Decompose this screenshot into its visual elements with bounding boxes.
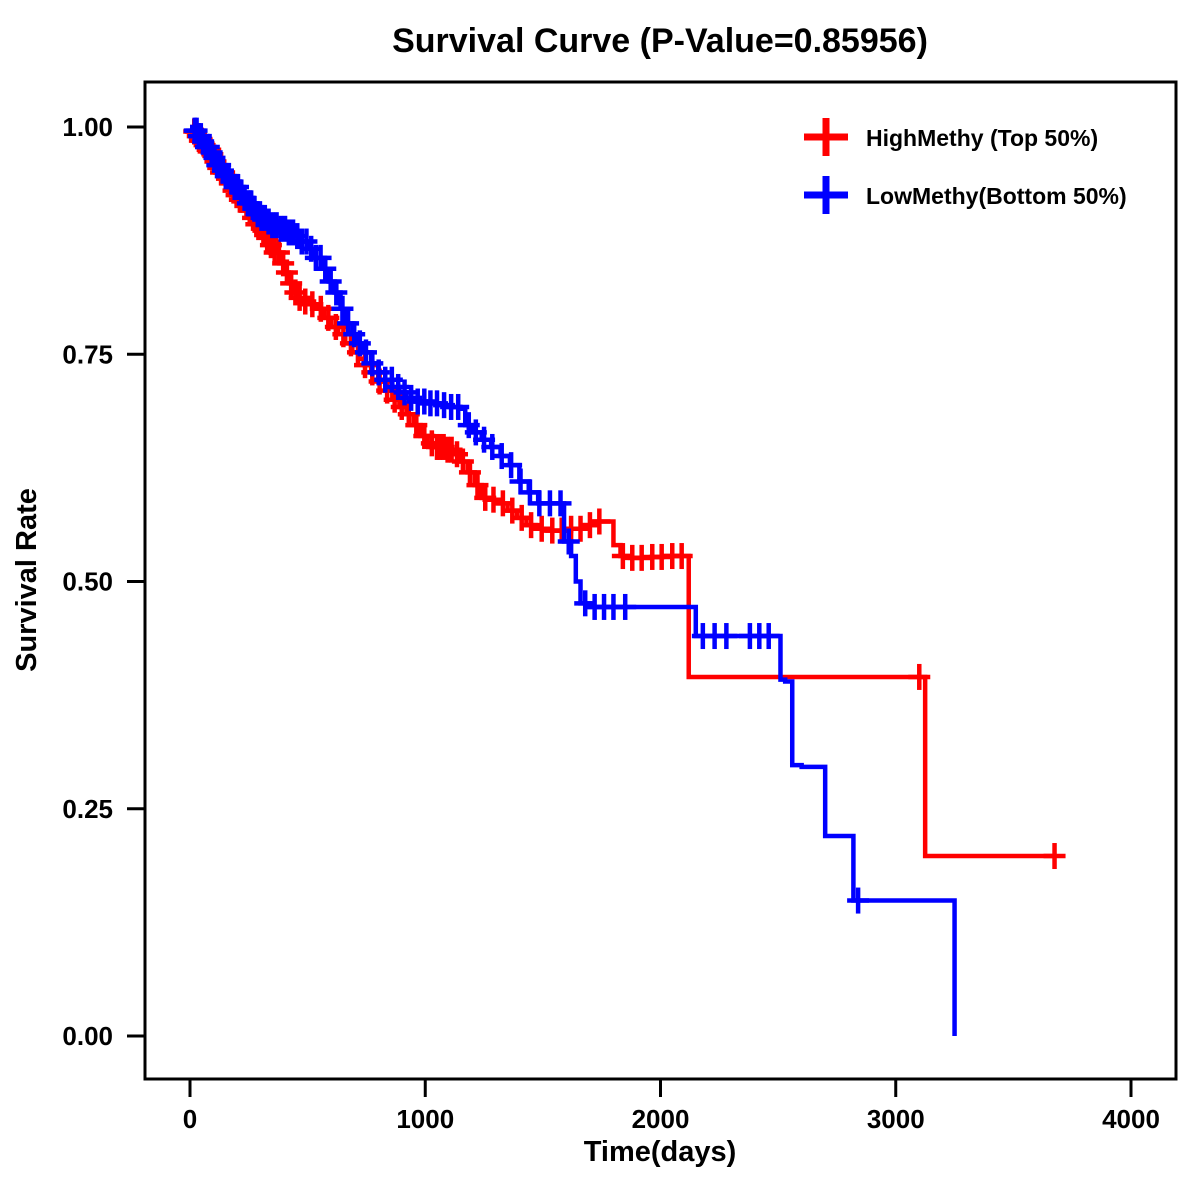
x-tick-label: 0 [183, 1104, 197, 1134]
legend-item-label: LowMethy(Bottom 50%) [866, 183, 1127, 209]
x-tick-label: 3000 [867, 1104, 925, 1134]
y-tick-label: 0.75 [62, 339, 113, 369]
legend-item-label: HighMethy (Top 50%) [866, 125, 1098, 151]
y-tick-label: 0.50 [62, 567, 113, 597]
x-tick-label: 2000 [632, 1104, 690, 1134]
chart-title: Survival Curve (P-Value=0.85956) [392, 22, 928, 60]
survival-curve-figure: Survival Curve (P-Value=0.85956) 0100020… [0, 0, 1200, 1200]
y-axis-label: Survival Rate [11, 488, 43, 672]
x-tick-label: 4000 [1102, 1104, 1160, 1134]
x-axis-label: Time(days) [584, 1136, 737, 1168]
y-tick-label: 0.25 [62, 794, 113, 824]
y-tick-label: 1.00 [62, 112, 113, 142]
y-tick-label: 0.00 [62, 1021, 113, 1051]
x-tick-label: 1000 [396, 1104, 454, 1134]
chart-background [0, 0, 1200, 1200]
chart-canvas: Survival Curve (P-Value=0.85956) 0100020… [0, 0, 1200, 1200]
